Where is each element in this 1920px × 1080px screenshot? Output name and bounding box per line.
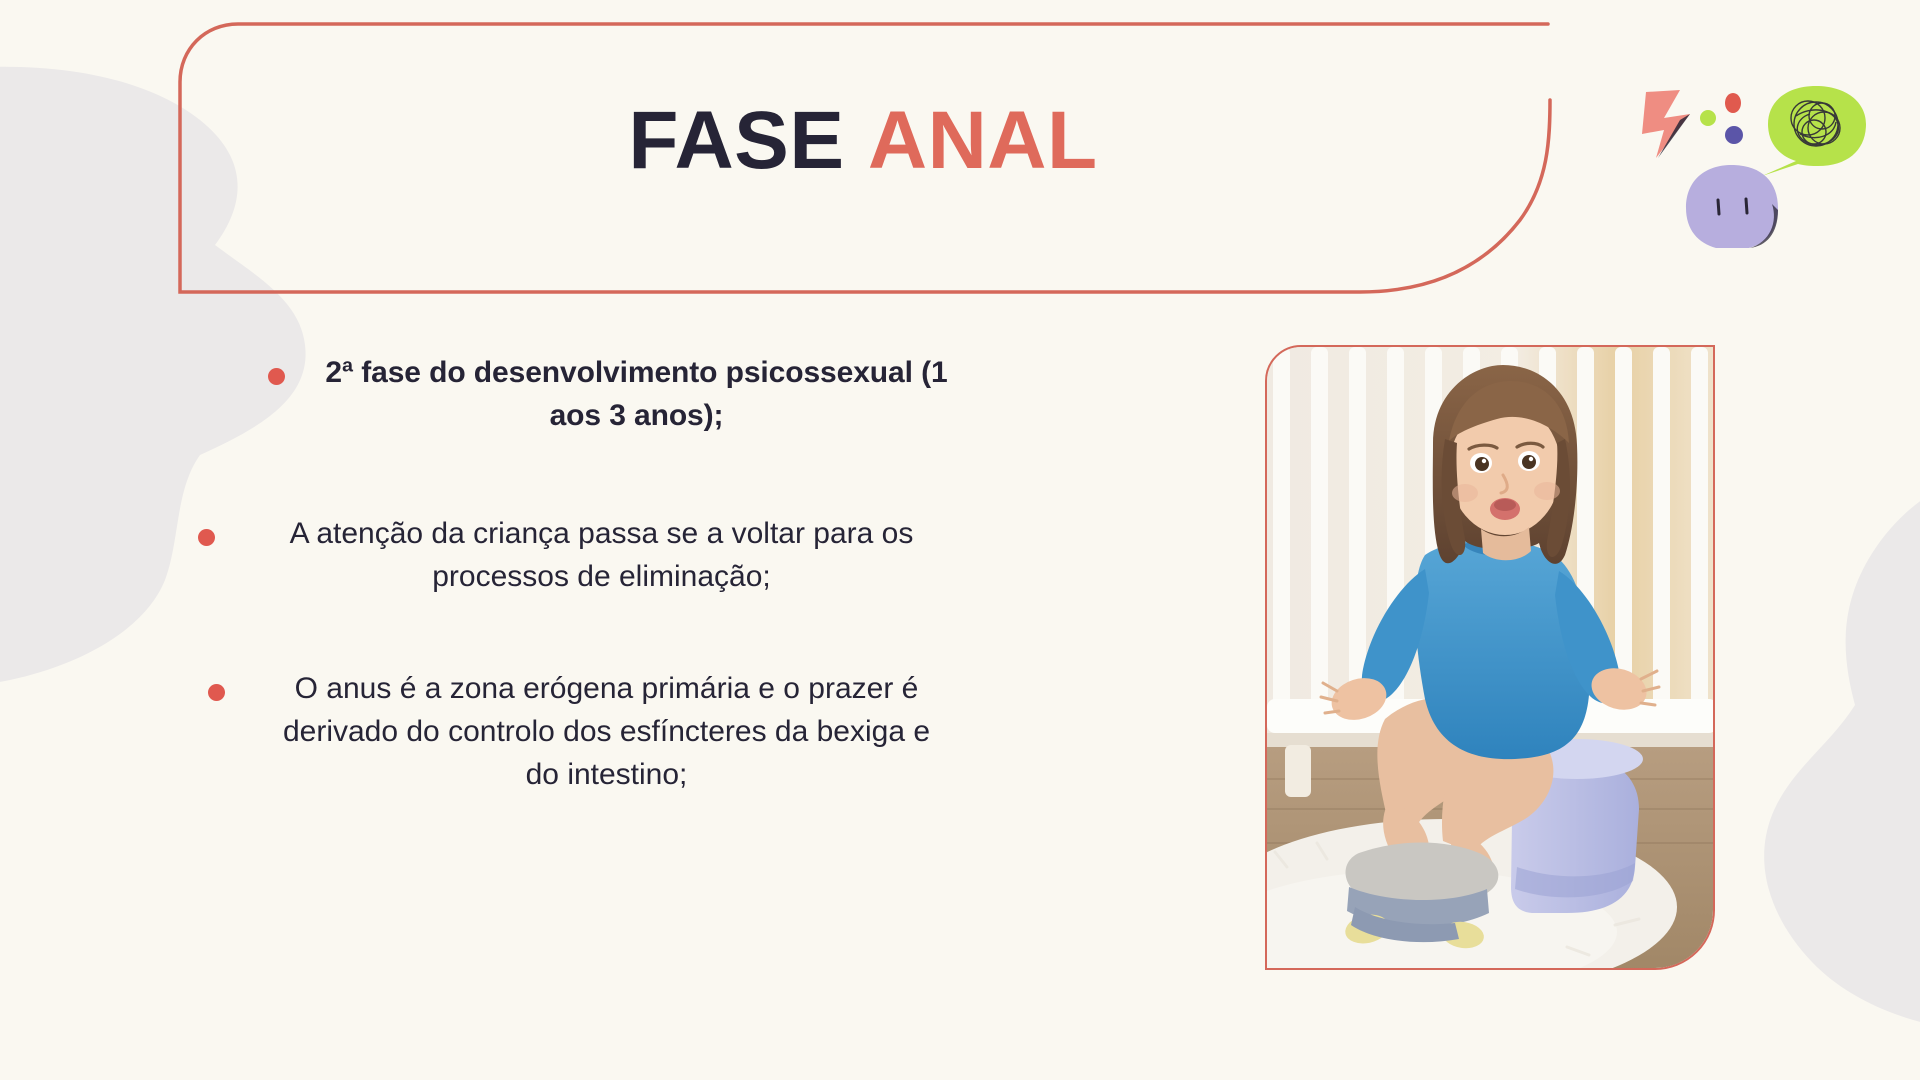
bullet-dot-icon <box>208 684 225 701</box>
purple-dot-doodle <box>1725 126 1743 144</box>
list-item: 2ª fase do desenvolvimento psicossexual … <box>190 352 950 437</box>
smiley-face-doodle <box>1686 165 1778 248</box>
list-item: A atenção da criança passa se a voltar p… <box>190 513 950 598</box>
photo-frame <box>1265 345 1715 970</box>
bullet-text: A atenção da criança passa se a voltar p… <box>253 513 950 598</box>
green-dot-doodle <box>1700 110 1716 126</box>
red-dot-doodle <box>1725 93 1741 113</box>
child-on-potty-illustration <box>1267 347 1713 968</box>
bullet-dot-icon <box>198 529 215 546</box>
bullet-text: O anus é a zona erógena primária e o pra… <box>263 668 950 796</box>
lightning-bolt-doodle <box>1642 90 1690 158</box>
right-blob <box>1764 470 1920 1032</box>
title-part-dark: FASE <box>628 95 844 186</box>
doodle-cluster <box>1620 58 1870 248</box>
slide-canvas: FASE ANAL 2ª fase do desenvolvimento psi… <box>0 0 1920 1080</box>
child-head <box>1433 365 1578 564</box>
doodle-svg <box>1620 58 1870 248</box>
bullet-dot-icon <box>268 368 285 385</box>
list-item: O anus é a zona erógena primária e o pra… <box>190 668 950 796</box>
page-title: FASE ANAL <box>178 100 1548 182</box>
speech-bubble-doodle <box>1762 86 1866 176</box>
bullet-list: 2ª fase do desenvolvimento psicossexual … <box>190 352 950 796</box>
bullet-text: 2ª fase do desenvolvimento psicossexual … <box>323 352 950 437</box>
photo-image <box>1267 347 1713 968</box>
title-part-accent: ANAL <box>868 95 1098 186</box>
title-space <box>845 95 868 186</box>
socks <box>1343 843 1499 951</box>
